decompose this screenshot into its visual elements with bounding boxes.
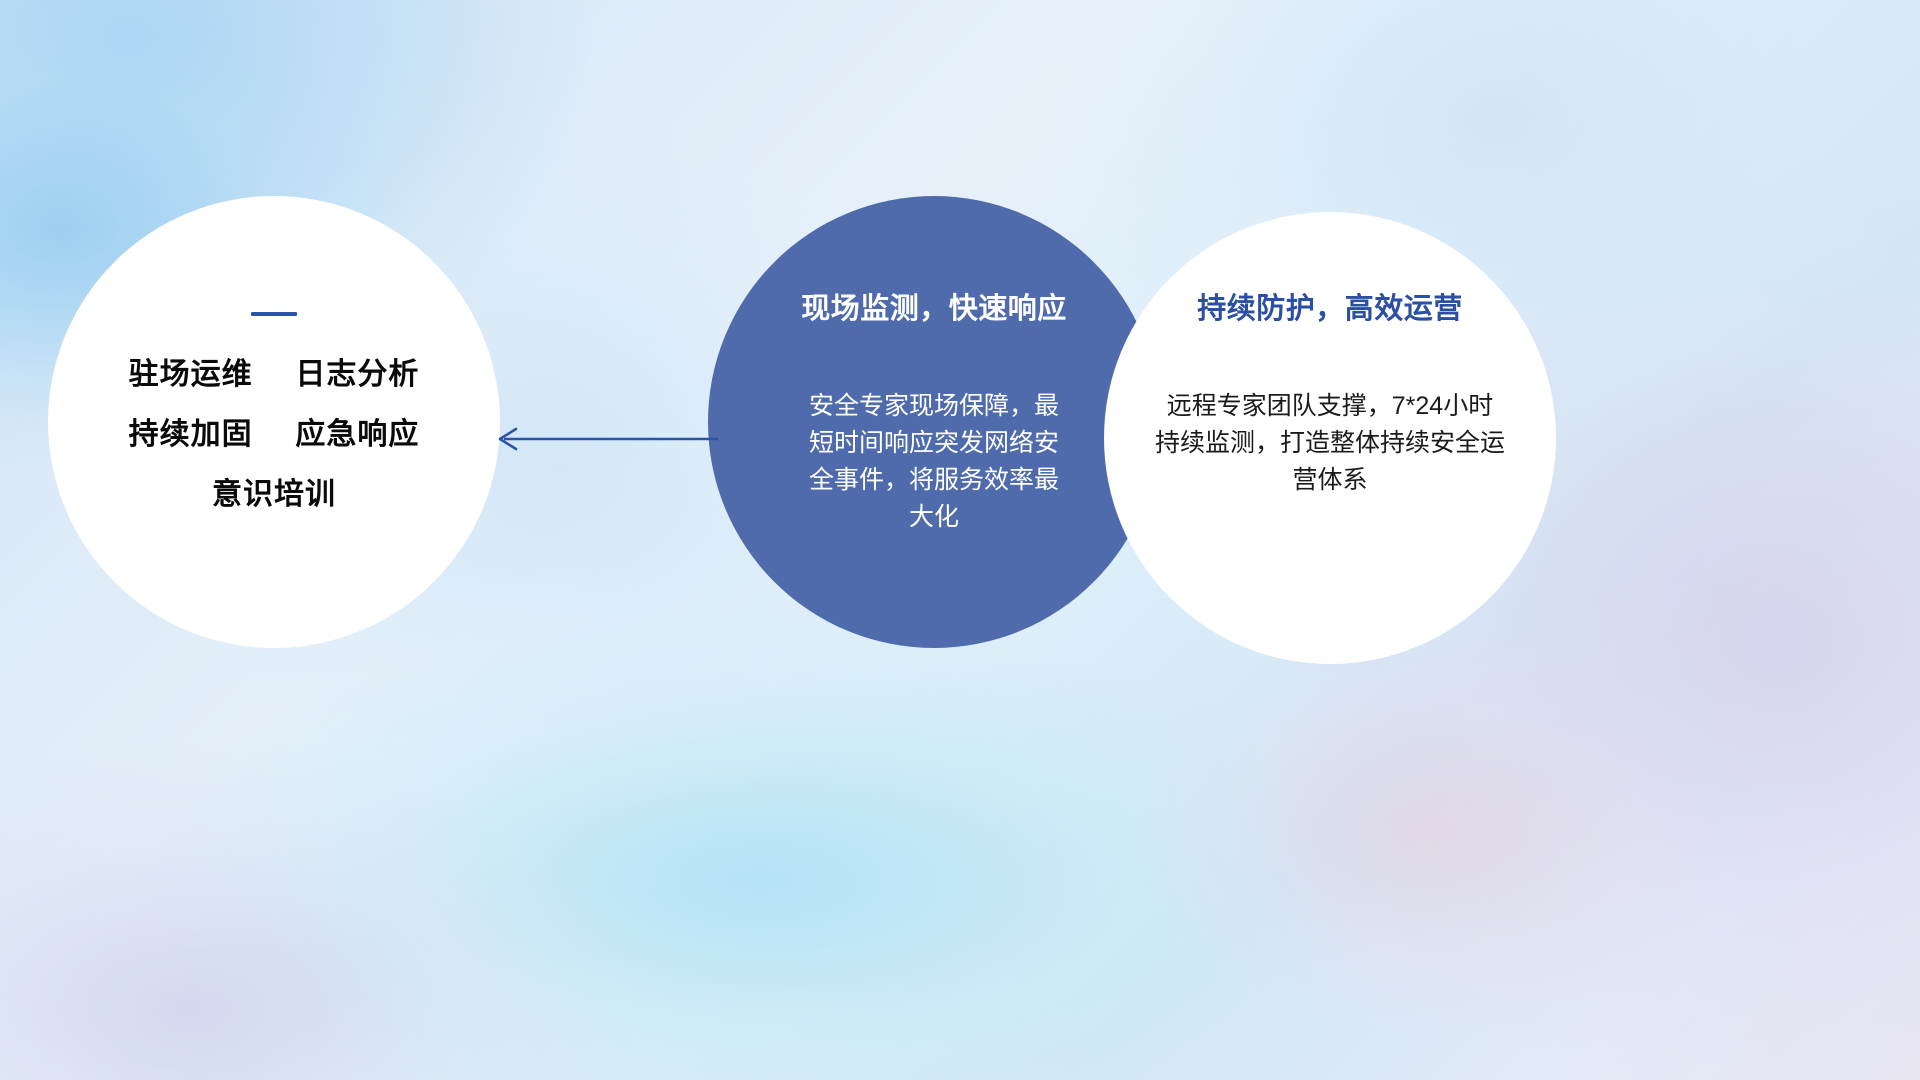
continuous-protection-title: 持续防护，高效运营 [1197, 294, 1463, 326]
capability-item-awareness-training: 意识培训 [212, 478, 336, 511]
capability-item-hardening: 持续加固 [129, 418, 253, 451]
capability-circle-content: 驻场运维 日志分析 持续加固 应急响应 意识培训 [48, 196, 500, 648]
continuous-protection-circle-content: 持续防护，高效运营 远程专家团队支撑，7*24小时持续监测，打造整体持续安全运营… [1104, 212, 1556, 664]
onsite-monitoring-circle-content: 现场监测，快速响应 安全专家现场保障，最短时间响应突发网络安全事件，将服务效率最… [708, 196, 1160, 648]
continuous-protection-body: 远程专家团队支撑，7*24小时持续监测，打造整体持续安全运营体系 [1155, 388, 1505, 499]
capability-item-log-analysis: 日志分析 [295, 358, 419, 391]
onsite-monitoring-body: 安全专家现场保障，最短时间响应突发网络安全事件，将服务效率最大化 [799, 388, 1069, 536]
capability-line-2: 持续加固 应急响应 [129, 420, 420, 450]
capability-item-onsite-ops: 驻场运维 [129, 358, 253, 391]
capability-line-1: 驻场运维 日志分析 [129, 360, 420, 390]
capability-item-emergency-response: 应急响应 [295, 418, 419, 451]
onsite-monitoring-title: 现场监测，快速响应 [801, 294, 1067, 326]
capability-line-3: 意识培训 [212, 480, 336, 510]
left-pointing-arrow-icon [490, 418, 720, 460]
slide-canvas: 驻场运维 日志分析 持续加固 应急响应 意识培训 现场监测，快速响应 安全专家现… [0, 0, 1920, 1080]
divider-rule [251, 312, 297, 316]
